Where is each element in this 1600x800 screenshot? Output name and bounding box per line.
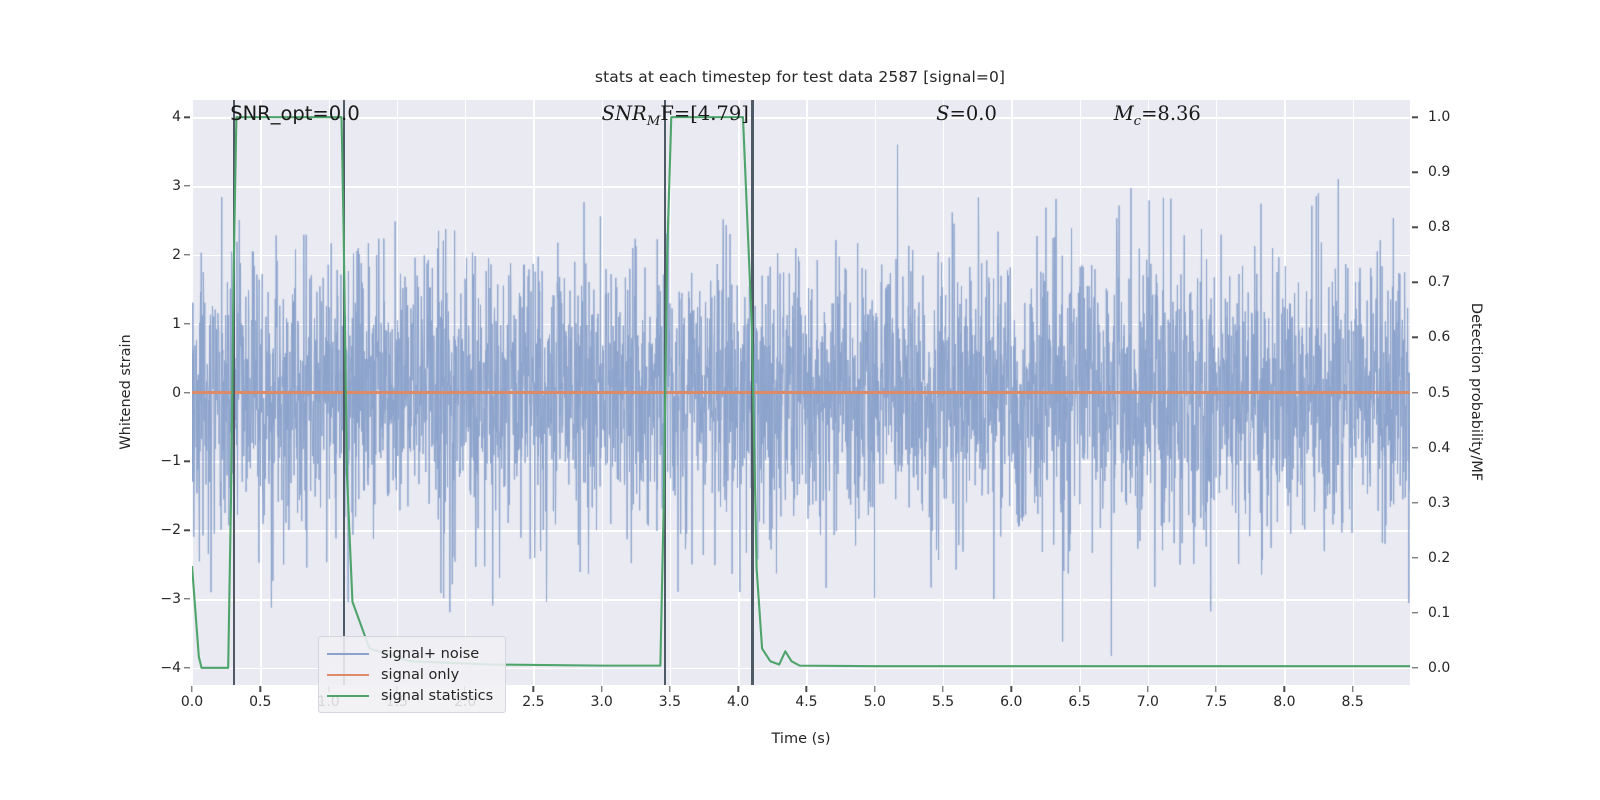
annotation-mchirp: Mc=8.36 [1114,102,1201,129]
x-tick-label: 8.0 [1273,694,1295,710]
legend-item[interactable]: signal+ noise [327,643,493,664]
x-tick-label: 5.5 [932,694,954,710]
x-tick-label: 3.0 [591,694,613,710]
y-tick-mark-right [1412,502,1418,503]
y-tick-label-right: 0.2 [1428,550,1450,566]
y-tick-label-right: 0.5 [1428,385,1450,401]
y-tick-label-left: −1 [160,453,181,469]
y-tick-label-left: 2 [172,247,181,263]
x-tick-mark [737,686,738,692]
stats-svg [192,100,1410,685]
x-tick-mark [191,686,192,692]
y-tick-mark-left [184,461,190,462]
y-tick-label-right: 0.6 [1428,329,1450,345]
y-tick-mark-right [1412,447,1418,448]
x-tick-label: 4.0 [727,694,749,710]
y-tick-mark-left [184,254,190,255]
plot-axes: SNR_opt=0.0SNRMF=[4.79]S=0.0Mc=8.36 [192,100,1410,685]
x-axis-label: Time (s) [772,731,831,747]
x-tick-label: 2.5 [522,694,544,710]
x-tick-label: 3.5 [659,694,681,710]
x-tick-mark [874,686,875,692]
signal-statistics-line [192,117,1410,668]
annotation-snr-opt: SNR_opt=0.0 [230,102,360,125]
y-tick-mark-right [1412,116,1418,117]
legend-label: signal+ noise [381,646,479,662]
legend-label: signal only [381,667,459,683]
x-tick-label: 0.0 [181,694,203,710]
x-tick-mark [806,686,807,692]
legend-item[interactable]: signal statistics [327,685,493,706]
y-tick-label-right: 0.1 [1428,605,1450,621]
y-tick-label-right: 0.9 [1428,164,1450,180]
y-tick-label-right: 0.0 [1428,660,1450,676]
y-tick-mark-left [184,323,190,324]
y-tick-label-left: −2 [160,522,181,538]
y-tick-label-left: −3 [160,591,181,607]
y-tick-mark-left [184,667,190,668]
x-tick-mark [1147,686,1148,692]
x-tick-mark [533,686,534,692]
y-tick-mark-left [184,529,190,530]
x-tick-mark [669,686,670,692]
x-tick-mark [260,686,261,692]
annotation-snr-mf: SNRMF=[4.79] [602,102,749,129]
x-tick-label: 6.5 [1068,694,1090,710]
x-tick-label: 7.5 [1205,694,1227,710]
y-tick-label-right: 0.3 [1428,495,1450,511]
y-tick-label-left: 4 [172,109,181,125]
y-tick-label-left: 3 [172,178,181,194]
legend-box[interactable]: signal+ noisesignal onlysignal statistic… [318,636,506,713]
y-tick-mark-right [1412,282,1418,283]
y-tick-label-right: 0.4 [1428,440,1450,456]
y-axis-label-right: Detection probability/MF [1468,303,1484,481]
y-tick-mark-right [1412,227,1418,228]
y-tick-mark-left [184,598,190,599]
y-tick-label-right: 0.8 [1428,219,1450,235]
y-tick-mark-right [1412,667,1418,668]
legend-color-swatch [327,674,369,676]
legend-color-swatch [327,653,369,655]
x-tick-label: 5.0 [864,694,886,710]
x-tick-mark [1215,686,1216,692]
annotation-s-stat: S=0.0 [936,102,997,125]
y-tick-mark-right [1412,392,1418,393]
x-tick-mark [1284,686,1285,692]
y-tick-label-right: 1.0 [1428,109,1450,125]
y-tick-mark-right [1412,337,1418,338]
y-tick-label-right: 0.7 [1428,274,1450,290]
legend-label: signal statistics [381,688,493,704]
figure-canvas: stats at each timestep for test data 258… [0,0,1600,800]
y-tick-mark-right [1412,612,1418,613]
x-tick-label: 6.0 [1000,694,1022,710]
y-axis-label-left: Whitened strain [118,334,134,449]
y-tick-label-left: −4 [160,660,181,676]
legend-item[interactable]: signal only [327,664,493,685]
x-tick-mark [601,686,602,692]
x-tick-label: 8.5 [1342,694,1364,710]
y-tick-label-left: 1 [172,316,181,332]
legend-color-swatch [327,695,369,697]
x-tick-label: 4.5 [795,694,817,710]
x-tick-mark [1011,686,1012,692]
chart-title: stats at each timestep for test data 258… [0,68,1600,86]
x-tick-mark [1352,686,1353,692]
x-tick-label: 7.0 [1137,694,1159,710]
signal-statistics-series [192,100,1410,685]
x-tick-mark [942,686,943,692]
y-tick-label-left: 0 [172,385,181,401]
x-tick-mark [1079,686,1080,692]
x-tick-label: 0.5 [249,694,271,710]
y-tick-mark-left [184,185,190,186]
y-tick-mark-right [1412,557,1418,558]
y-tick-mark-left [184,117,190,118]
y-tick-mark-right [1412,172,1418,173]
y-tick-mark-left [184,392,190,393]
